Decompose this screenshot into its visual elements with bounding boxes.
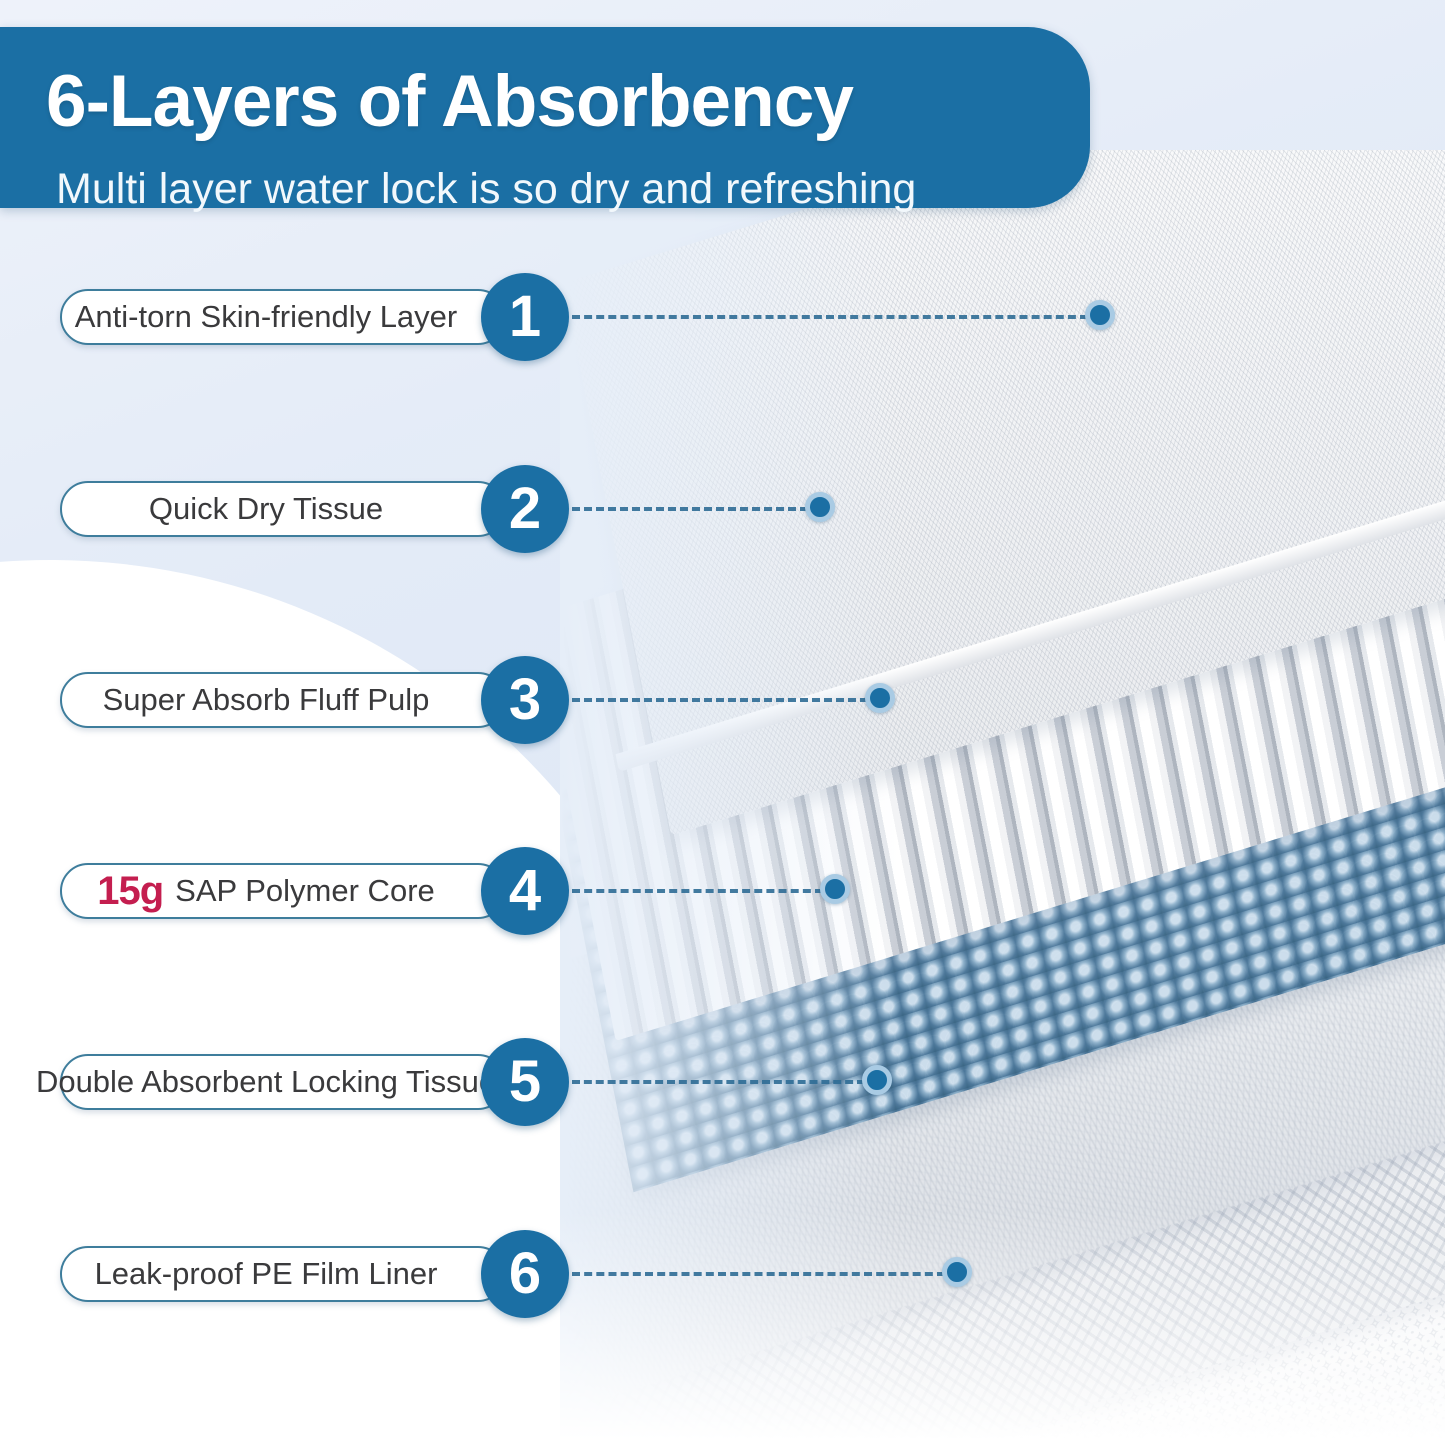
connector-end-dot-1: [1085, 300, 1115, 330]
layer-number-badge-1[interactable]: 1: [481, 273, 569, 361]
connector-dashed-line-6: [572, 1272, 945, 1276]
layer-number-badge-2[interactable]: 2: [481, 465, 569, 553]
layer-pill-3[interactable]: Super Absorb Fluff Pulp: [60, 672, 506, 728]
layer-number-badge-6[interactable]: 6: [481, 1230, 569, 1318]
header-banner: 6-Layers of Absorbency Multi layer water…: [0, 27, 1090, 208]
layer-number-badge-4[interactable]: 4: [481, 847, 569, 935]
layer-pill-label: Anti-torn Skin-friendly Layer: [75, 299, 492, 335]
layer-callout-4: 15gSAP Polymer Core4: [0, 845, 1445, 937]
layer-pill-5[interactable]: Double Absorbent Locking Tissue: [60, 1054, 506, 1110]
layer-callout-3: Super Absorb Fluff Pulp3: [0, 654, 1445, 746]
connector-dashed-line-1: [572, 315, 1088, 319]
page-subtitle: Multi layer water lock is so dry and ref…: [56, 168, 916, 211]
layer-number-badge-3[interactable]: 3: [481, 656, 569, 744]
layer-pill-label: Quick Dry Tissue: [149, 491, 417, 527]
layer-weight-highlight: 15g: [97, 869, 163, 914]
layer-pill-label: SAP Polymer Core: [175, 873, 469, 909]
layer-callout-2: Quick Dry Tissue2: [0, 463, 1445, 555]
layer-pill-label: Leak-proof PE Film Liner: [95, 1256, 472, 1292]
layer-pill-label: Super Absorb Fluff Pulp: [103, 682, 464, 718]
page-title: 6-Layers of Absorbency: [46, 65, 853, 138]
connector-end-dot-3: [865, 683, 895, 713]
layer-callout-5: Double Absorbent Locking Tissue5: [0, 1036, 1445, 1128]
connector-dashed-line-2: [572, 507, 808, 511]
connector-end-dot-4: [820, 874, 850, 904]
layer-number-badge-5[interactable]: 5: [481, 1038, 569, 1126]
connector-dashed-line-3: [572, 698, 868, 702]
connector-end-dot-6: [942, 1257, 972, 1287]
layer-pill-4[interactable]: 15gSAP Polymer Core: [60, 863, 506, 919]
layer-pill-2[interactable]: Quick Dry Tissue: [60, 481, 506, 537]
connector-dashed-line-5: [572, 1080, 865, 1084]
infographic-canvas: 6-Layers of Absorbency Multi layer water…: [0, 0, 1445, 1445]
connector-end-dot-5: [862, 1065, 892, 1095]
layer-pill-6[interactable]: Leak-proof PE Film Liner: [60, 1246, 506, 1302]
layer-callout-6: Leak-proof PE Film Liner6: [0, 1228, 1445, 1320]
layer-callout-1: Anti-torn Skin-friendly Layer1: [0, 271, 1445, 363]
connector-dashed-line-4: [572, 889, 823, 893]
connector-end-dot-2: [805, 492, 835, 522]
layer-pill-1[interactable]: Anti-torn Skin-friendly Layer: [60, 289, 506, 345]
layer-pill-label: Double Absorbent Locking Tissue: [36, 1064, 530, 1100]
